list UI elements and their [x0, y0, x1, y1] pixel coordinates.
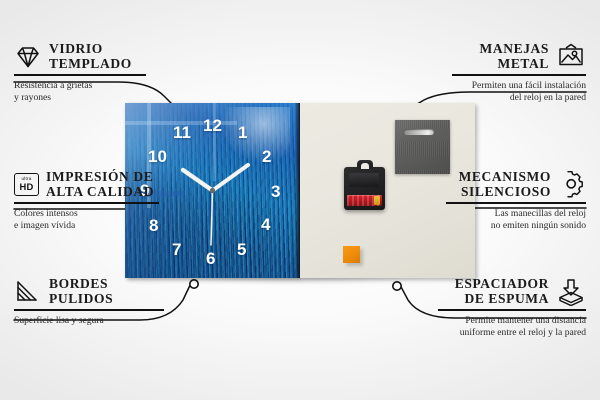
feature-desc-line1: Permiten una fácil instalación	[452, 80, 586, 92]
feature-divider	[14, 309, 164, 311]
feature-title-line1: MANEJAS	[480, 42, 549, 57]
feature-desc-line2: del reloj en la pared	[452, 92, 586, 104]
feature-title-line2: TEMPLADO	[49, 57, 132, 72]
feature-desc-line2: no emiten ningún sonido	[446, 220, 586, 232]
foam-spacer-icon	[556, 278, 586, 306]
feature-title-line1: MECANISMO	[459, 170, 551, 185]
feature-vidrio-templado: VIDRIO TEMPLADO Resistencia a grietas y …	[14, 42, 146, 105]
feature-header: MECANISMO SILENCIOSO	[446, 170, 586, 199]
feature-divider	[14, 74, 146, 76]
feature-desc-line1: Resistencia a grietas	[14, 80, 146, 92]
feature-divider	[438, 309, 586, 311]
metal-hanger-plate	[395, 120, 450, 174]
ultra-hd-badge-hd-text: HD	[20, 182, 34, 191]
feature-title: MANEJAS METAL	[480, 42, 549, 71]
feature-divider	[452, 74, 586, 76]
polished-edge-icon	[14, 279, 42, 305]
picture-hanger-icon	[556, 43, 586, 71]
feature-divider	[446, 202, 586, 204]
mechanism-hanging-tab	[357, 160, 373, 169]
feature-divider	[14, 202, 159, 204]
feature-manejas-metal: MANEJAS METAL Permiten una fácil instala…	[452, 42, 586, 105]
feature-description: Las manecillas del reloj no emiten ningú…	[446, 208, 586, 233]
feature-header: MANEJAS METAL	[452, 42, 586, 71]
feature-description: Superficie lisa y segura	[14, 315, 164, 327]
diamond-icon	[14, 44, 42, 70]
feature-description: Resistencia a grietas y rayones	[14, 80, 146, 105]
feature-desc-line1: Permite mantener una distancia	[438, 315, 586, 327]
feature-description: Permite mantener una distancia uniforme …	[438, 315, 586, 340]
feature-title-line2: METAL	[480, 57, 549, 72]
feature-header: BORDES PULIDOS	[14, 277, 164, 306]
feature-title: VIDRIO TEMPLADO	[49, 42, 132, 71]
ultra-hd-badge-icon: ultra HD	[14, 173, 39, 196]
foam-spacer-pad	[343, 246, 360, 263]
feature-bordes-pulidos: BORDES PULIDOS Superficie lisa y segura	[14, 277, 164, 327]
feature-title-line1: IMPRESIÓN DE	[46, 170, 154, 185]
battery-label-stripes	[347, 195, 382, 206]
feature-espaciador-espuma: ESPACIADOR DE ESPUMA Permite mantener un…	[438, 277, 586, 340]
feature-header: ESPACIADOR DE ESPUMA	[438, 277, 586, 306]
feature-desc-line1: Superficie lisa y segura	[14, 315, 164, 327]
feature-desc-line2: uniforme entre el reloj y la pared	[438, 327, 586, 339]
infographic-canvas: 12 1 2 3 4 5 6 7 8 9 10 11	[0, 0, 600, 400]
feature-title-line2: DE ESPUMA	[455, 292, 549, 307]
hanger-keyhole-slot	[404, 129, 434, 135]
feature-title-line2: SILENCIOSO	[459, 185, 551, 200]
feature-title-line2: ALTA CALIDAD	[46, 185, 154, 200]
feature-impresion-alta-calidad: ultra HD IMPRESIÓN DE ALTA CALIDAD Color…	[14, 170, 159, 233]
feature-title: IMPRESIÓN DE ALTA CALIDAD	[46, 170, 154, 199]
feature-title-line1: ESPACIADOR	[455, 277, 549, 292]
feature-title: ESPACIADOR DE ESPUMA	[455, 277, 549, 306]
feature-title-line1: BORDES	[49, 277, 113, 292]
mechanism-housing-detail	[349, 173, 379, 187]
battery	[347, 195, 382, 206]
feature-title: MECANISMO SILENCIOSO	[459, 170, 551, 199]
feature-mecanismo-silencioso: MECANISMO SILENCIOSO Las manecillas del …	[446, 170, 586, 233]
feature-desc-line2: e imagen vívida	[14, 220, 159, 232]
product-image-group: 12 1 2 3 4 5 6 7 8 9 10 11	[125, 103, 475, 278]
feature-title: BORDES PULIDOS	[49, 277, 113, 306]
feature-title-line1: VIDRIO	[49, 42, 132, 57]
feature-desc-line1: Colores intensos	[14, 208, 159, 220]
feature-title-line2: PULIDOS	[49, 292, 113, 307]
feature-header: ultra HD IMPRESIÓN DE ALTA CALIDAD	[14, 170, 159, 199]
gear-icon	[558, 171, 586, 198]
feature-desc-line2: y rayones	[14, 92, 146, 104]
feature-desc-line1: Las manecillas del reloj	[446, 208, 586, 220]
feature-header: VIDRIO TEMPLADO	[14, 42, 146, 71]
silent-clock-mechanism	[344, 167, 385, 210]
feature-description: Colores intensos e imagen vívida	[14, 208, 159, 233]
feature-description: Permiten una fácil instalación del reloj…	[452, 80, 586, 105]
